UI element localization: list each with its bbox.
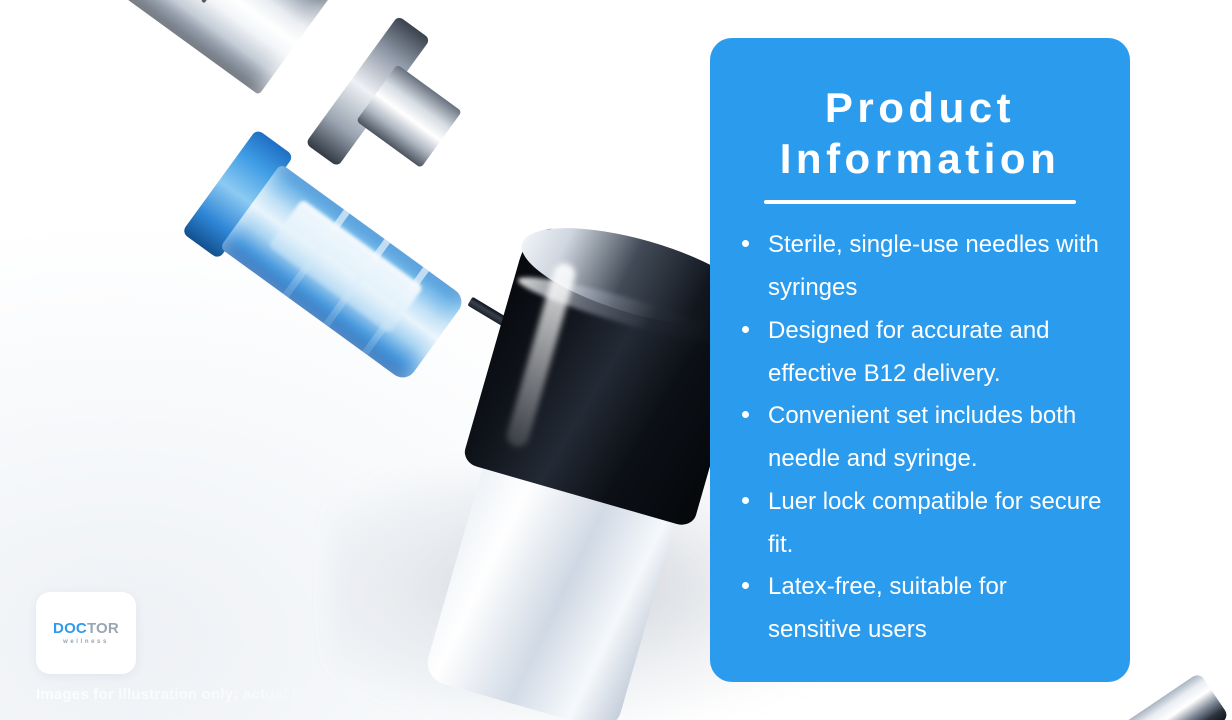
list-item-label: Convenient set includes both needle and … <box>768 402 1076 472</box>
bullet-dot-icon <box>742 497 749 504</box>
bullet-dot-icon <box>742 582 749 589</box>
logo-primary-text: DOC <box>53 620 87 637</box>
disclaimer-text: Images for illustration only; actual ite… <box>36 686 403 703</box>
list-item-label: Luer lock compatible for secure fit. <box>768 488 1102 558</box>
list-item-label: Designed for accurate and effective B12 … <box>768 317 1050 387</box>
title-divider <box>764 200 1076 204</box>
bullet-dot-icon <box>742 326 749 333</box>
product-information-graphic: DOCTOR wellness Images for illustration … <box>0 0 1232 720</box>
brand-logo-wordmark: DOCTOR <box>53 621 119 636</box>
list-item: Convenient set includes both needle and … <box>736 395 1104 480</box>
bullet-dot-icon <box>742 411 749 418</box>
logo-secondary-text: TOR <box>87 620 119 637</box>
bullet-dot-icon <box>742 240 749 247</box>
list-item: Luer lock compatible for secure fit. <box>736 481 1104 566</box>
brand-logo-tagline: wellness <box>63 639 109 645</box>
list-item: Sterile, single-use needles with syringe… <box>736 224 1104 309</box>
barrel-body <box>0 0 336 95</box>
brand-logo-badge: DOCTOR wellness <box>36 592 136 674</box>
card-title: Product Information <box>736 82 1104 184</box>
product-information-card: Product Information Sterile, single-use … <box>710 38 1130 682</box>
list-item-label: Latex-free, suitable for sensitive users <box>768 573 1007 643</box>
list-item: Designed for accurate and effective B12 … <box>736 310 1104 395</box>
list-item-label: Sterile, single-use needles with syringe… <box>768 231 1099 301</box>
list-item: Latex-free, suitable for sensitive users <box>736 566 1104 651</box>
product-feature-list: Sterile, single-use needles with syringe… <box>736 224 1104 651</box>
